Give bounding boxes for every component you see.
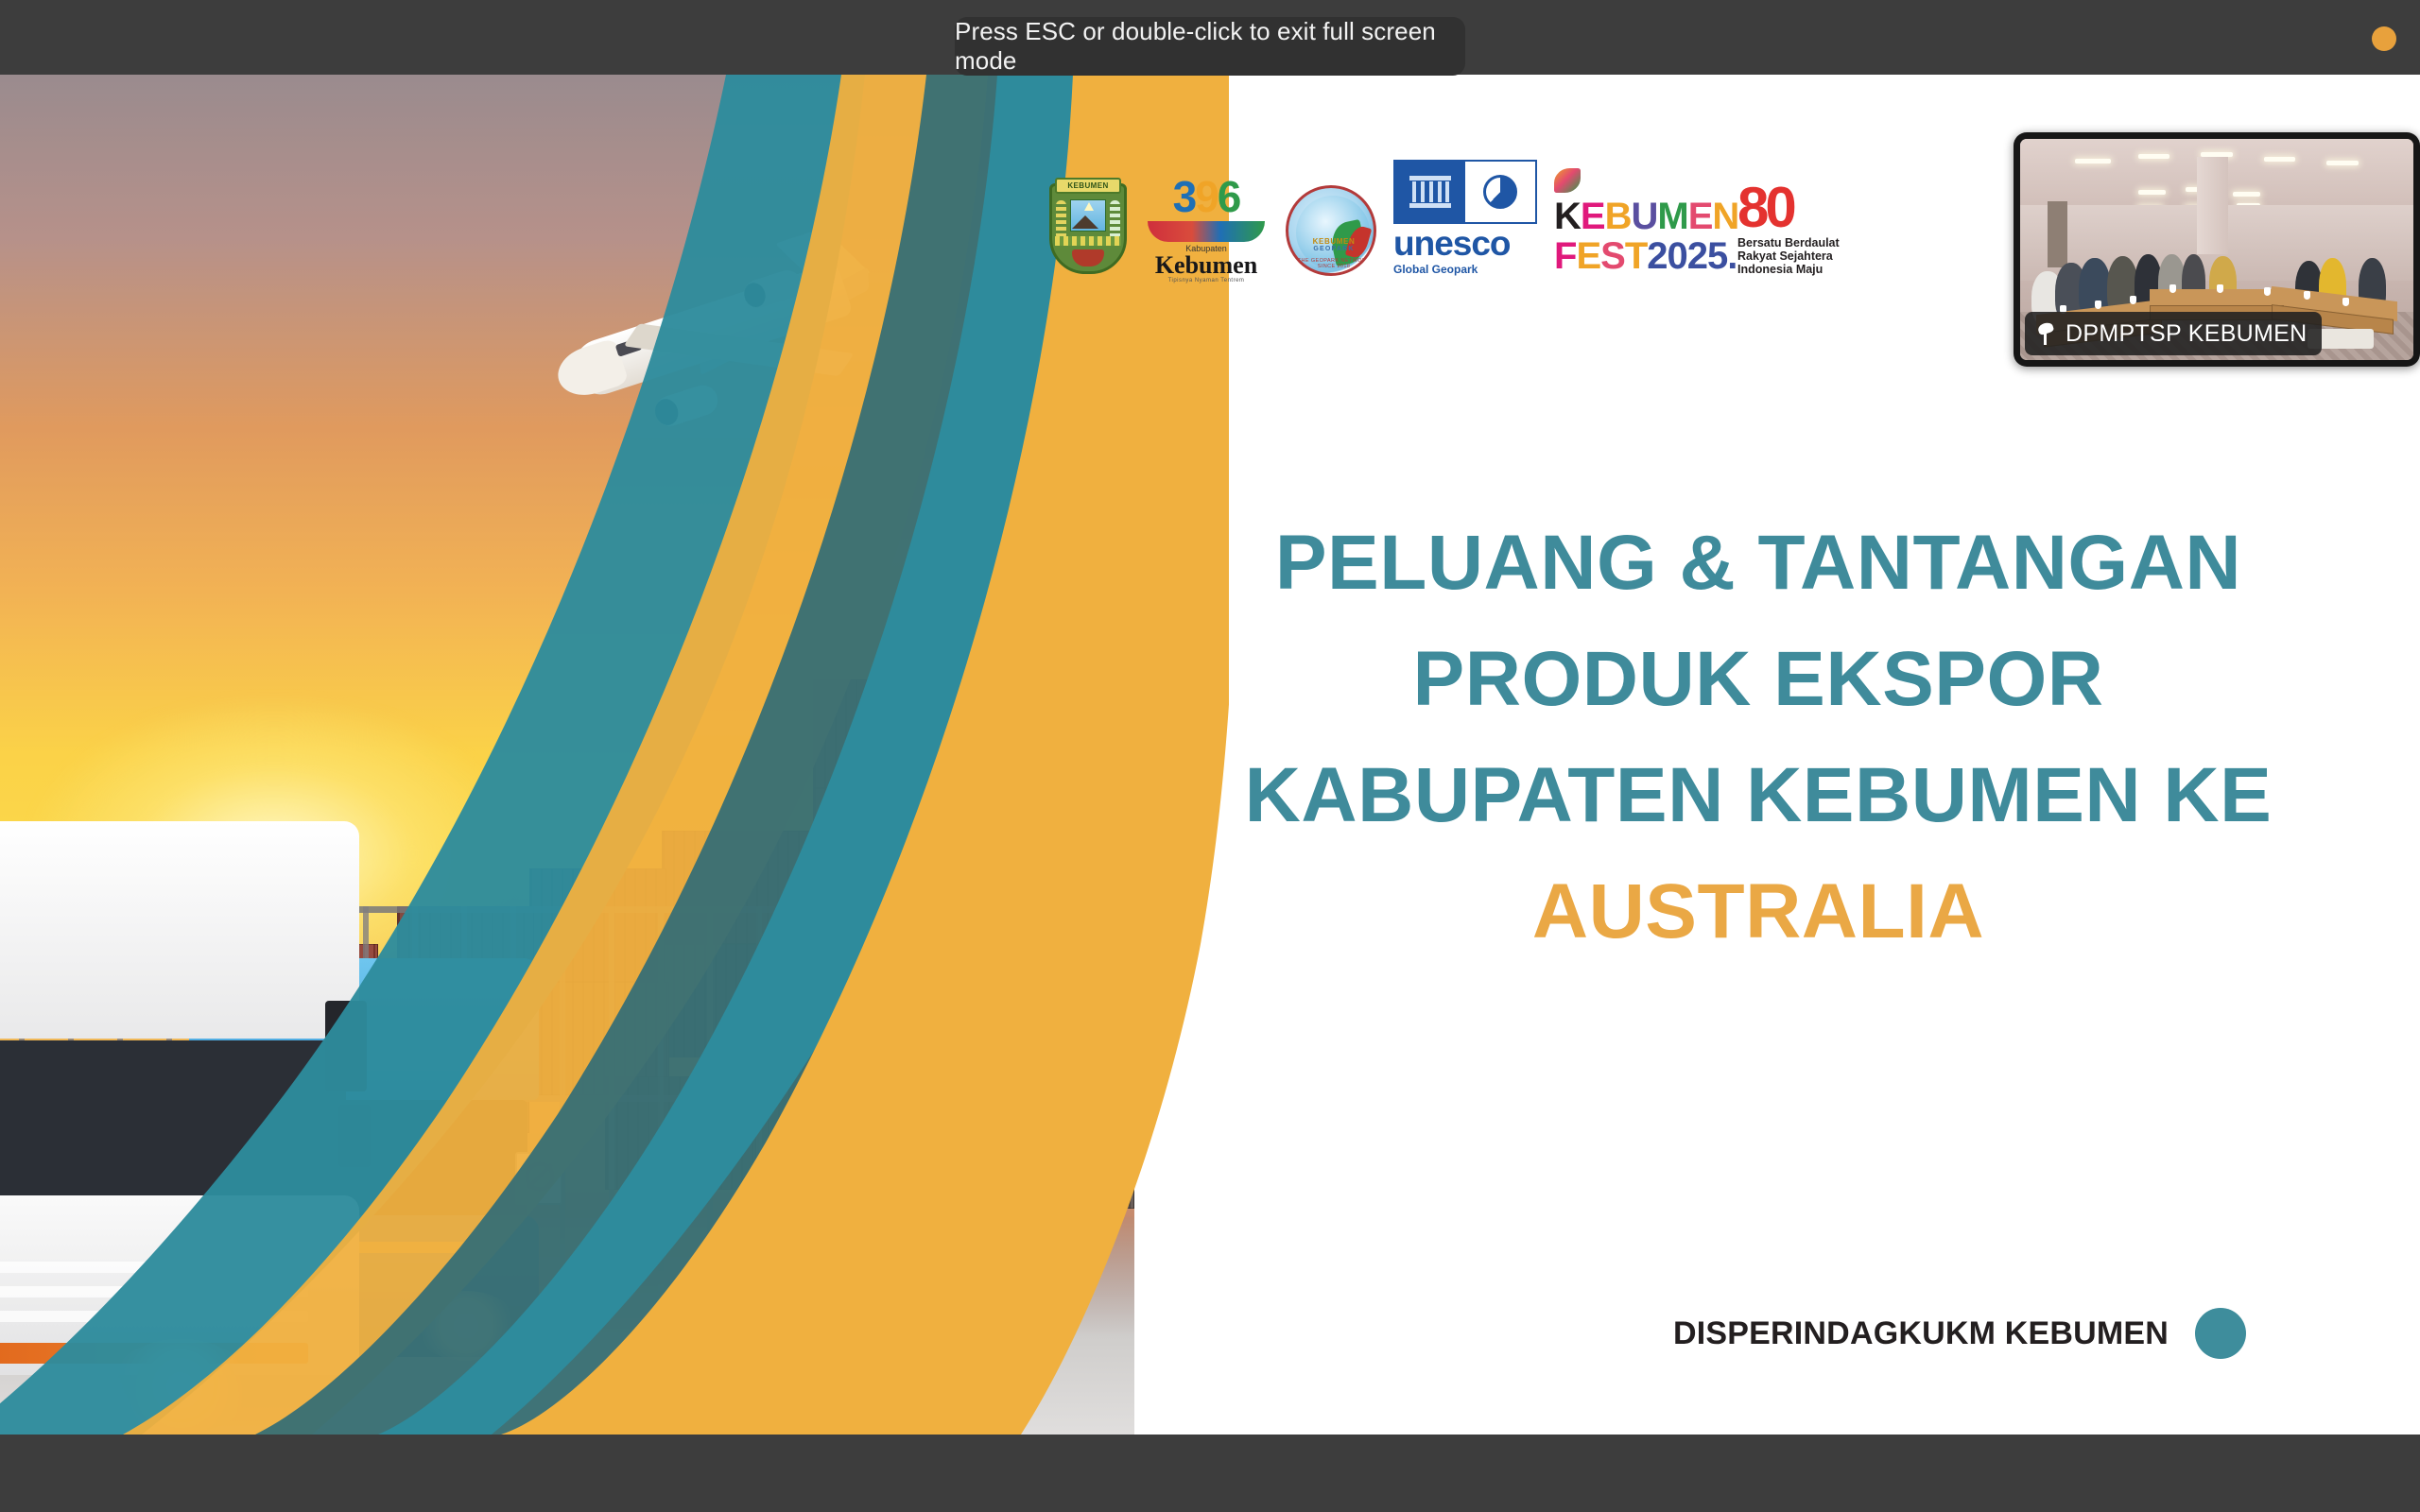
slogan-line-3: Indonesia Maju <box>1737 263 1860 276</box>
participant-name: DPMPTSP KEBUMEN <box>2066 320 2307 348</box>
geopark-line2: GEOPARK <box>1288 246 1376 252</box>
decorative-wave-ribbons <box>0 75 1229 1435</box>
geopark-line1: KEBUMEN <box>1288 237 1376 246</box>
fullscreen-toast-text: Press ESC or double-click to exit full s… <box>955 17 1465 76</box>
crest-label: KEBUMEN <box>1055 178 1121 194</box>
swoosh-graphic <box>1148 221 1265 242</box>
pin-icon <box>2036 323 2055 345</box>
participant-name-badge: DPMPTSP KEBUMEN <box>2025 312 2322 355</box>
slogan-line-1: Bersatu Berdaulat <box>1737 236 1860 249</box>
geopark-arc-text: THE GEOPARK NETWORK SINCE 2018 <box>1288 258 1376 269</box>
slide-title: PELUANG & TANTANGAN PRODUK EKSPOR KABUPA… <box>1134 505 2382 970</box>
logo-unesco-global-geopark: unesco Global Geopark <box>1393 160 1537 276</box>
footer-organization: DISPERINDAGKUKM KEBUMEN <box>1673 1315 2169 1352</box>
app-window: Press ESC or double-click to exit full s… <box>0 0 2420 1512</box>
anniversary-numerals: 396 <box>1144 172 1269 221</box>
anniversary-number: 80 <box>1737 180 1860 236</box>
logo-wordmark: Kebumen <box>1144 253 1269 278</box>
logo-kebumen-coat-of-arms: KEBUMEN <box>1049 174 1127 276</box>
video-tile[interactable]: DPMPTSP KEBUMEN <box>2014 132 2420 367</box>
logo-indonesia-80: 80 Bersatu Berdaulat Rakyat Sejahtera In… <box>1737 180 1860 276</box>
recording-indicator-icon <box>2372 26 2396 51</box>
unesco-subtitle: Global Geopark <box>1393 263 1537 276</box>
fullscreen-exit-toast: Press ESC or double-click to exit full s… <box>955 17 1465 76</box>
title-line-4: AUSTRALIA <box>1134 853 2382 970</box>
logo-kebumen-fest-2025: KEBUMEN FEST2025. <box>1554 157 1720 276</box>
title-line-2: PRODUK EKSPOR <box>1134 621 2382 737</box>
slide-footer: DISPERINDAGKUKM KEBUMEN <box>1673 1308 2246 1359</box>
title-line-3: KABUPATEN KEBUMEN KE <box>1134 737 2382 853</box>
slogan-line-2: Rakyat Sejahtera <box>1737 249 1860 263</box>
logo-kebumen-geopark: KEBUMEN GEOPARK THE GEOPARK NETWORK SINC… <box>1286 185 1376 276</box>
title-line-1: PELUANG & TANTANGAN <box>1134 505 2382 621</box>
logo-kebumen-396: 396 Kabupaten Kebumen Tipisnya Nyaman Te… <box>1144 172 1269 276</box>
unesco-wordmark: unesco <box>1393 226 1537 262</box>
bird-icon <box>1554 168 1581 193</box>
footer-dot-icon <box>2195 1308 2246 1359</box>
geopark-globe-icon <box>1483 175 1517 209</box>
logo-strip: KEBUMEN 396 Kabupaten Kebumen Tipisnya N… <box>1049 158 1860 276</box>
unesco-temple-icon <box>1409 176 1451 208</box>
window-bottom-chrome <box>0 1435 2420 1512</box>
